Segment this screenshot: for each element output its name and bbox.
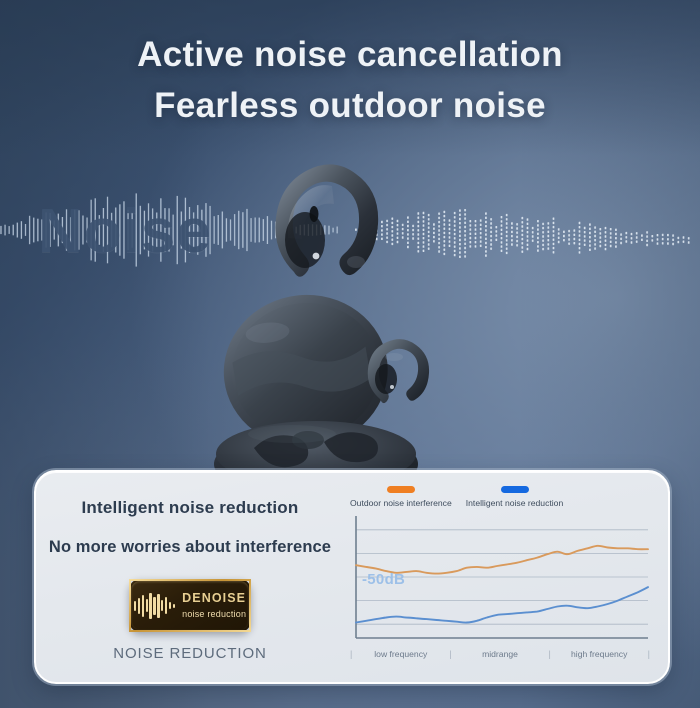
panel-lead-line-2: No more worries about interference — [46, 538, 334, 557]
legend-label-intelligent: Intelligent noise reduction — [466, 498, 563, 508]
legend-item-intelligent: Intelligent noise reduction — [466, 486, 563, 508]
panel-right-column: Outdoor noise interference Intelligent n… — [344, 472, 668, 682]
page-title: Active noise cancellation Fearless outdo… — [0, 30, 700, 132]
legend-swatch-intelligent — [501, 486, 529, 493]
open-ear-clip-earbud — [258, 152, 384, 288]
x-label-mid: midrange — [452, 649, 549, 659]
denoise-badge-title: DENOISE — [182, 592, 246, 605]
chart-x-axis: | low frequency | midrange | high freque… — [350, 649, 650, 659]
panel-left-column: Intelligent noise reduction No more worr… — [36, 472, 344, 682]
noise-reduction-panel: Intelligent noise reduction No more worr… — [34, 470, 670, 684]
frequency-response-chart: -50dB — [350, 514, 650, 646]
db-annotation: -50dB — [362, 571, 405, 588]
x-label-low: low frequency — [352, 649, 449, 659]
headline-line-2: Fearless outdoor noise — [0, 81, 700, 132]
waveform-bars-icon — [134, 593, 175, 619]
panel-lead-line-1: Intelligent noise reduction — [46, 498, 334, 518]
open-ear-clip-earbud-small — [360, 335, 436, 407]
denoise-badge-subtitle: noise reduction — [182, 610, 246, 619]
noise-reduction-caption: NOISE REDUCTION — [46, 645, 334, 662]
legend-item-outdoor: Outdoor noise interference — [350, 486, 452, 508]
legend-swatch-outdoor — [387, 486, 415, 493]
x-tick-3: | — [648, 649, 650, 659]
headline-line-1: Active noise cancellation — [137, 35, 563, 74]
advertisement-canvas: Noise — [0, 0, 700, 708]
noise-watermark-text: Noise — [38, 196, 212, 267]
denoise-badge: DENOISE noise reduction — [129, 579, 251, 632]
x-label-high: high frequency — [551, 649, 648, 659]
chart-legend: Outdoor noise interference Intelligent n… — [344, 482, 654, 508]
legend-label-outdoor: Outdoor noise interference — [350, 498, 452, 508]
